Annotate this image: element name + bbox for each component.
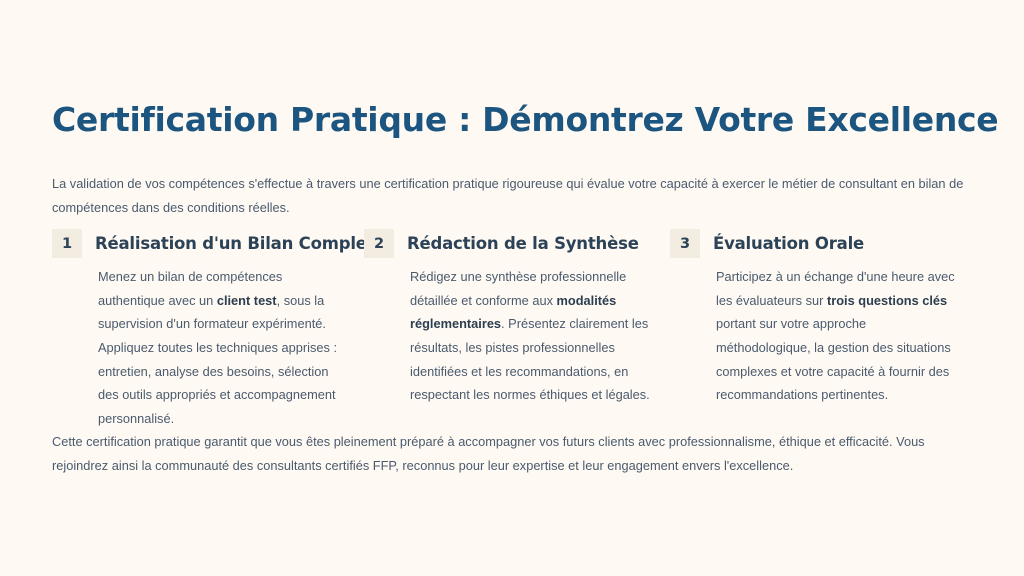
step-title: Rédaction de la Synthèse bbox=[407, 234, 639, 253]
slide-root: Certification Pratique : Démontrez Votre… bbox=[0, 0, 1024, 576]
step-header-1: 1 Réalisation d'un Bilan Complet bbox=[52, 229, 346, 258]
step-body: Participez à un échange d'une heure avec… bbox=[670, 265, 958, 407]
step-title: Évaluation Orale bbox=[713, 234, 864, 253]
step-header-3: 3 Évaluation Orale bbox=[670, 229, 958, 258]
step-header-2: 2 Rédaction de la Synthèse bbox=[364, 229, 652, 258]
step-number-badge: 3 bbox=[670, 229, 700, 258]
page-title: Certification Pratique : Démontrez Votre… bbox=[52, 100, 998, 140]
intro-paragraph: La validation de vos compétences s'effec… bbox=[52, 172, 982, 219]
step-title: Réalisation d'un Bilan Complet bbox=[95, 234, 374, 253]
step-column-3: 3 Évaluation Orale Participez à un échan… bbox=[670, 229, 976, 431]
step-number-badge: 2 bbox=[364, 229, 394, 258]
step-body: Menez un bilan de compétences authentiqu… bbox=[52, 265, 346, 431]
step-body: Rédigez une synthèse professionnelle dét… bbox=[364, 265, 652, 407]
outro-paragraph: Cette certification pratique garantit qu… bbox=[52, 430, 942, 477]
step-number-badge: 1 bbox=[52, 229, 82, 258]
step-column-2: 2 Rédaction de la Synthèse Rédigez une s… bbox=[364, 229, 670, 431]
step-column-1: 1 Réalisation d'un Bilan Complet Menez u… bbox=[52, 229, 364, 431]
steps-columns: 1 Réalisation d'un Bilan Complet Menez u… bbox=[52, 229, 976, 431]
